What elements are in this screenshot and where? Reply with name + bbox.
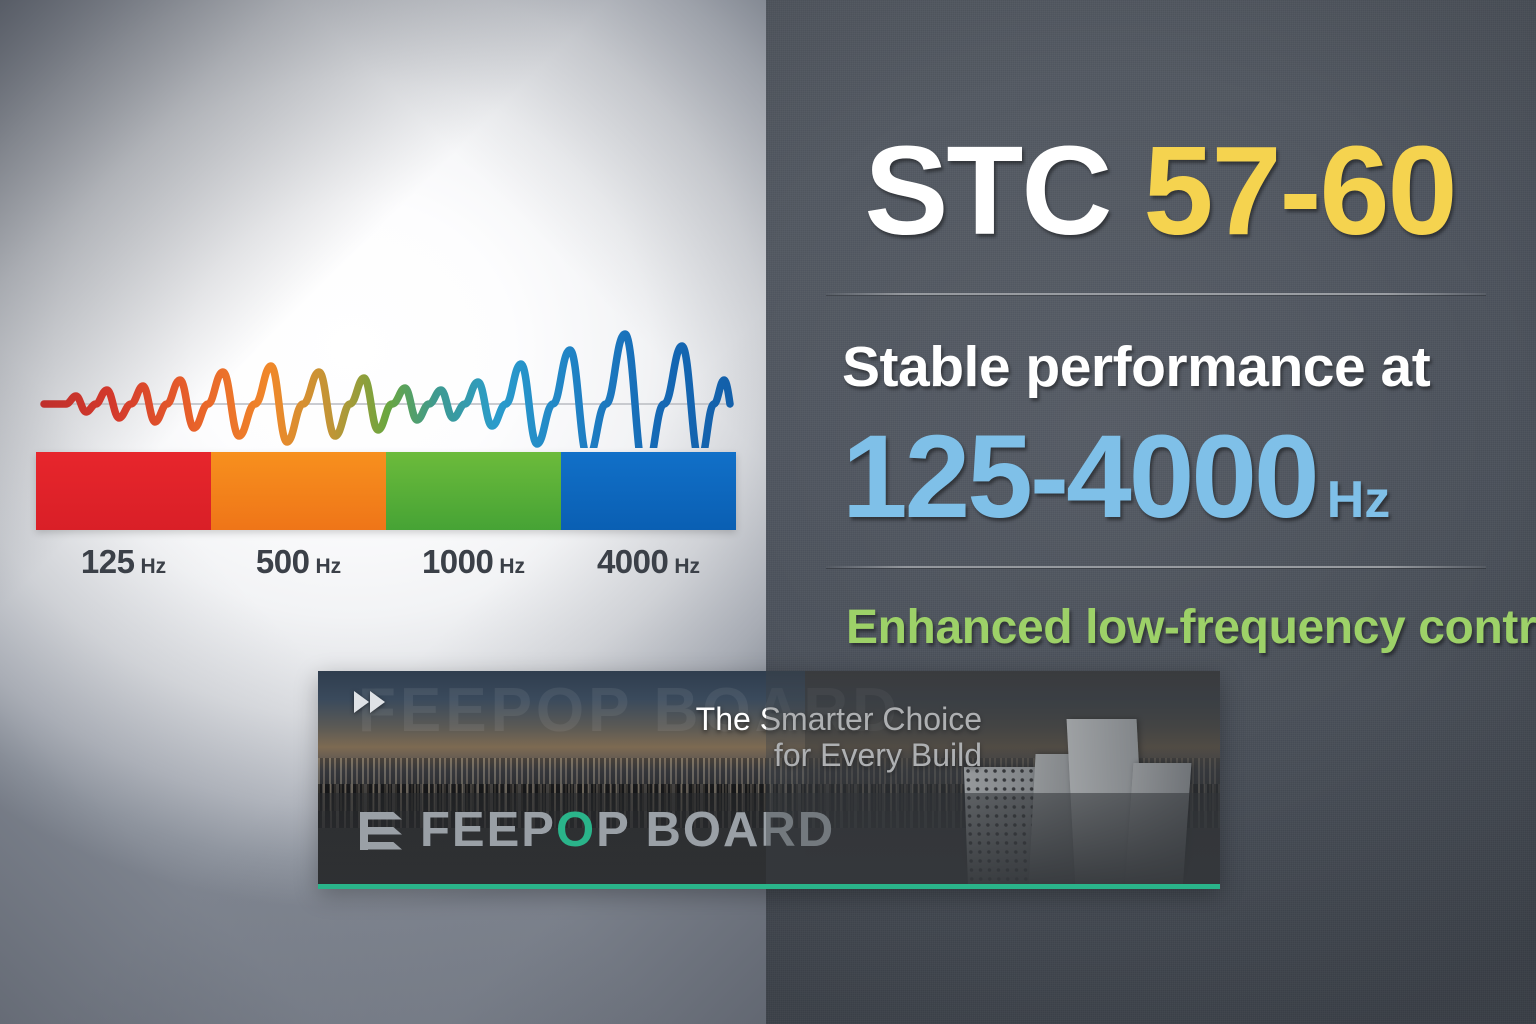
banner-tagline-line1: The Smarter Choice — [696, 701, 982, 737]
frequency-value-500: 500 — [256, 543, 310, 581]
frequency-value-125: 125 — [81, 543, 135, 581]
divider-top — [826, 293, 1486, 295]
frequency-band-value: 125-4000 — [842, 411, 1317, 543]
brand-name-part1: FEEP — [420, 803, 556, 857]
banner-tagline: The Smarter Choice for Every Build — [502, 701, 982, 774]
frequency-label-1000: 1000 Hz — [386, 543, 561, 589]
frequency-waveform — [36, 316, 736, 448]
frequency-band: 125-4000Hz — [842, 418, 1482, 536]
frequency-value-4000: 4000 — [597, 543, 668, 581]
frequency-label-4000: 4000 Hz — [561, 543, 736, 589]
spectrum-segment-500 — [211, 452, 386, 530]
subtitle: Stable performance at — [842, 334, 1482, 400]
infographic-stage: 125 Hz 500 Hz 1000 Hz 4000 Hz STC 57-60 — [0, 0, 1536, 1024]
frequency-labels: 125 Hz 500 Hz 1000 Hz 4000 Hz — [36, 543, 736, 589]
divider-bottom — [826, 566, 1486, 568]
spectrum-segment-1000 — [386, 452, 561, 530]
spectrum-segment-4000 — [561, 452, 736, 530]
frequency-unit-125: Hz — [140, 555, 166, 579]
layers-icon-bar-2 — [360, 827, 402, 835]
tagline: Enhanced low-frequency control — [846, 600, 1496, 655]
frequency-label-125: 125 Hz — [36, 543, 211, 589]
frequency-unit-500: Hz — [315, 555, 341, 579]
frequency-unit-1000: Hz — [499, 555, 525, 579]
layers-icon — [360, 809, 402, 853]
layers-icon-bar-3 — [360, 842, 402, 850]
banner-accent-underline — [318, 884, 1220, 889]
page-title: STC 57-60 — [840, 128, 1480, 254]
frequency-label-500: 500 Hz — [211, 543, 386, 589]
frequency-spectrum-bar — [36, 452, 736, 530]
banner-tagline-line2: for Every Build — [502, 737, 982, 773]
fast-forward-icon[interactable] — [354, 689, 396, 715]
frequency-band-unit: Hz — [1327, 471, 1391, 529]
frequency-unit-4000: Hz — [674, 555, 700, 579]
headline-prefix: STC — [864, 120, 1110, 261]
promo-banner[interactable]: FEEPOP BOARD The Smarter Choice for Ever… — [318, 671, 1220, 889]
brand-name-highlight: O — [556, 803, 596, 857]
brand-name: FEEPOP BOARD — [420, 806, 835, 855]
layers-icon-bar-1 — [360, 812, 402, 820]
spectrum-segment-125 — [36, 452, 211, 530]
brand-logo[interactable]: FEEPOP BOARD — [360, 806, 835, 855]
headline-value: 57-60 — [1143, 120, 1455, 261]
brand-name-part2: P BOARD — [596, 803, 835, 857]
frequency-value-1000: 1000 — [422, 543, 493, 581]
